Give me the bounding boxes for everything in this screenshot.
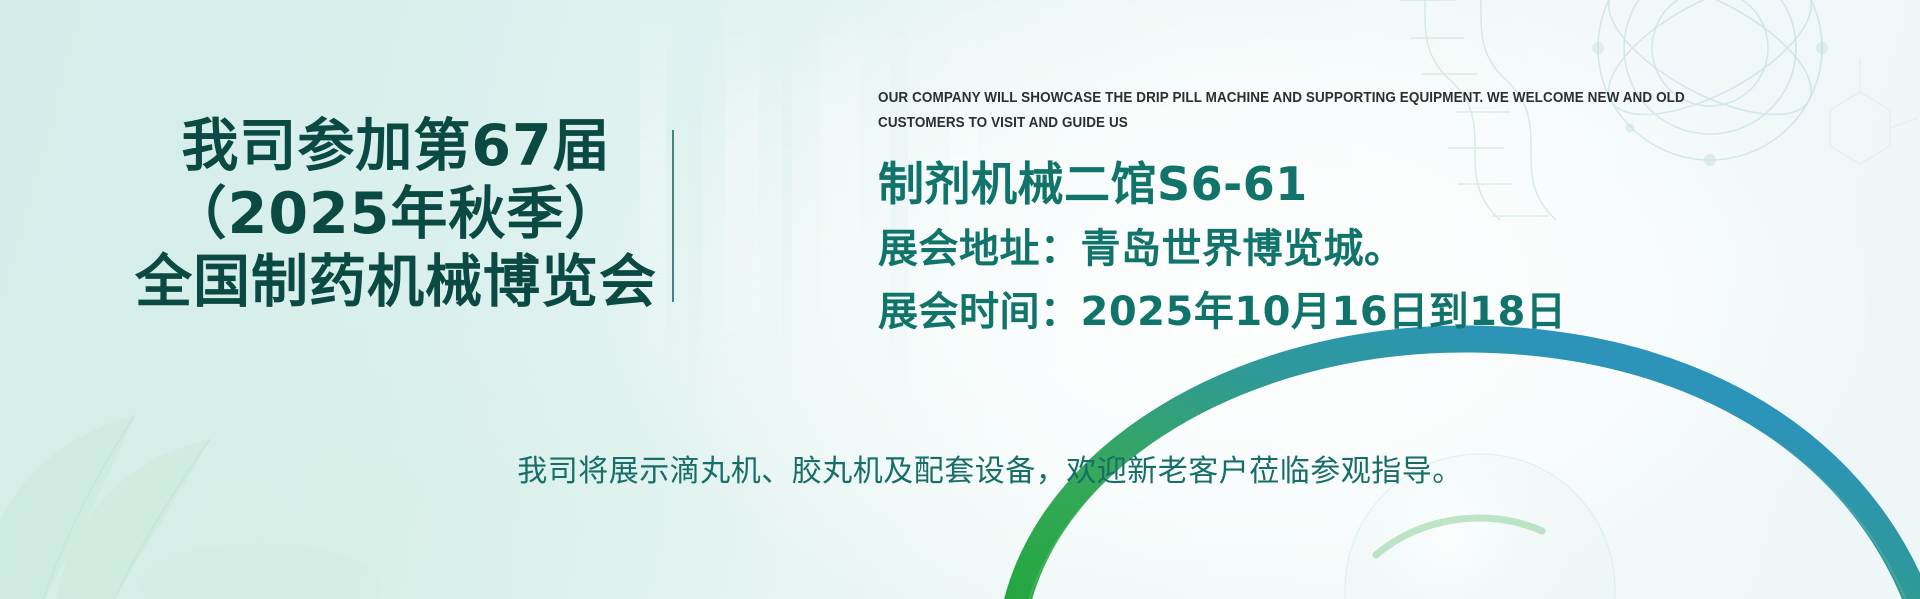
right-info-block: OUR COMPANY WILL SHOWCASE THE DRIP PILL … (878, 86, 1818, 337)
english-intro-text: OUR COMPANY WILL SHOWCASE THE DRIP PILL … (878, 86, 1720, 136)
bottom-subtitle: 我司将展示滴丸机、胶丸机及配套设备，欢迎新老客户莅临参观指导。 (0, 452, 1920, 492)
exhibition-banner: 我司参加第67届 （2025年秋季） 全国制药机械博览会 OUR COMPANY… (0, 0, 1920, 599)
hall-booth-number: 制剂机械二馆S6-61 (878, 157, 1818, 211)
bubble-graphic-icon (1280, 389, 1800, 599)
left-headline-block: 我司参加第67届 （2025年秋季） 全国制药机械博览会 (120, 112, 672, 316)
left-headline-line-3: 全国制药机械博览会 (120, 248, 672, 316)
left-headline-line-2: （2025年秋季） (120, 180, 672, 248)
exhibition-datetime: 展会时间：2025年10月16日到18日 (878, 287, 1818, 337)
vertical-divider (672, 130, 674, 302)
left-headline-line-1: 我司参加第67届 (120, 112, 672, 180)
venue-address: 展会地址：青岛世界博览城。 (878, 224, 1818, 274)
